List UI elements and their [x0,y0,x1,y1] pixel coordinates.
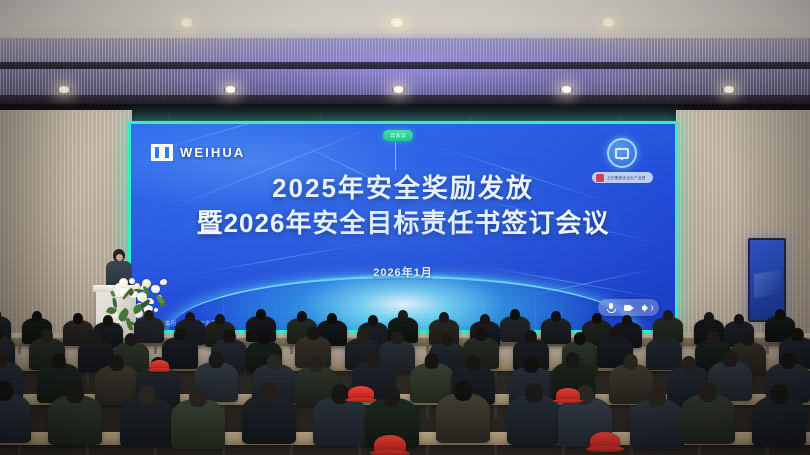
person-head [681,356,696,372]
ceiling-downlight-top-1 [388,18,406,27]
ceiling-beam-lower [0,95,810,104]
person-head [215,314,225,325]
person-head [622,315,632,326]
person-head [297,311,307,322]
person-head [551,311,561,322]
person-body [752,396,806,446]
audience-person [630,387,684,455]
person-head [658,329,670,342]
green-tag-stem [395,142,396,170]
person-head [0,381,13,401]
person-head [466,355,481,371]
audience-person [171,387,225,455]
person-head [73,313,83,324]
person-head [707,331,719,344]
audience-person [242,382,296,452]
desk-leg [494,445,497,455]
person-head [525,383,543,403]
person-body [507,395,561,445]
ceiling-downlight-mid-1 [224,86,237,93]
person-head [475,328,487,341]
speaker-face [116,254,123,261]
audience-person [752,384,806,454]
safety-helmet-3 [590,432,620,450]
person-head [723,351,738,367]
person-head [439,312,449,323]
person-head [307,327,319,340]
person-head [357,329,369,342]
person-body [313,396,367,446]
person-head [185,312,195,323]
person-head [0,351,8,367]
person-body [630,399,684,449]
person-head [368,315,378,326]
person-head [480,314,490,325]
person-head [223,330,235,343]
audience-person [0,381,31,451]
ceiling-downlight-mid-4 [722,86,736,93]
person-head [41,329,53,342]
person-head [258,332,270,345]
ceiling-downlight-mid-0 [57,86,71,93]
person-body [0,393,31,443]
person-head [592,313,602,324]
person-head [648,387,666,407]
weihua-brand-lockup: WEIHUA [151,144,245,161]
safety-helmet-4 [150,360,169,371]
person-body [120,397,174,447]
person-head [174,328,186,341]
ceiling-downlight-mid-3 [560,86,573,93]
person-head [125,333,137,346]
person-head [699,382,717,402]
person-head [524,357,539,373]
person-head [144,310,154,321]
brand-name-label: WEIHUA [180,145,245,160]
person-head [441,333,453,346]
person-head [103,315,113,326]
person-head [209,352,224,368]
person-head [308,356,323,372]
conference-hall-photo: WEIHUA 云会议 卫华集团安全生产监督 2025年安全奖励发放 暨2026年… [0,0,810,455]
presentation-screen-icon [607,138,637,168]
person-head [775,309,785,320]
person-body [436,393,490,443]
person-head [256,309,266,320]
audience-person [507,383,561,453]
person-head [742,333,754,346]
safety-helmet-2 [374,435,406,454]
person-head [704,312,714,323]
person-head [609,327,621,340]
person-body [681,394,735,444]
ceiling-beam-upper [0,62,810,69]
person-head [189,387,207,407]
person-head [791,328,803,341]
audience-area [0,300,810,455]
person-head [32,311,42,322]
person-head [267,354,282,370]
audience-person [436,381,490,451]
person-head [734,314,744,325]
person-head [260,382,278,402]
person-head [90,331,102,344]
person-head [510,309,520,320]
flower-blossom [160,280,164,284]
person-head [138,385,156,405]
person-head [574,332,586,345]
person-head [109,355,124,371]
person-body [171,399,225,449]
person-head [454,381,472,401]
person-head [565,352,580,368]
slide-date: 2026年1月 [131,264,675,280]
slide-title: 2025年安全奖励发放 暨2026年安全目标责任书签订会议 [131,171,675,240]
slide-title-line1: 2025年安全奖励发放 [131,171,675,206]
screen-glyph [615,148,629,159]
person-head [525,330,537,343]
person-head [398,310,408,321]
safety-helmet-0 [348,386,374,401]
flower-blossom [151,285,159,293]
person-head [781,353,796,369]
person-head [366,351,381,367]
weihua-gantry-logo-icon [151,144,173,161]
person-head [383,386,401,406]
person-head [424,353,439,369]
person-head [66,383,84,403]
person-head [623,354,638,370]
slide-green-tag: 云会议 [383,130,413,141]
person-head [391,331,403,344]
audience-person [681,382,735,452]
person-head [663,310,673,321]
ceiling-downlight-top-0 [178,18,195,27]
person-body [242,394,296,444]
audience-person [48,383,102,453]
slide-title-line2: 暨2026年安全目标责任书签订会议 [131,206,675,241]
person-head [51,353,66,369]
person-head [770,384,788,404]
person-body [48,395,102,445]
desk-leg [426,445,429,455]
ceiling-downlight-top-2 [600,18,617,27]
ceiling-downlight-mid-2 [392,86,405,93]
person-head [327,313,337,324]
safety-helmet-1 [556,388,580,402]
audience-person [120,385,174,455]
